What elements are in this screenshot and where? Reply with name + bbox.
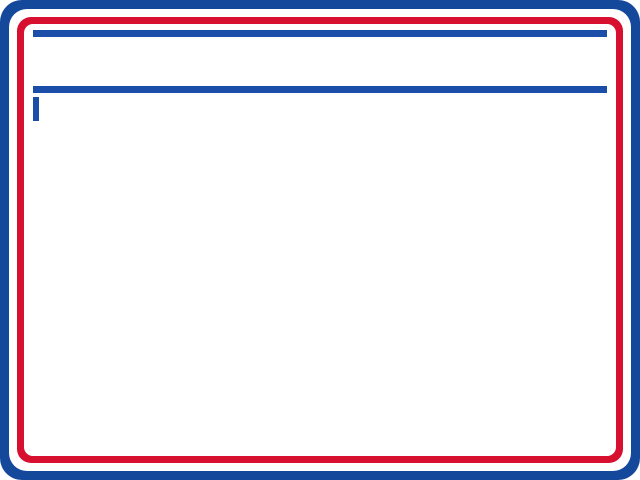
content-panel	[24, 24, 616, 456]
screenshot-root	[0, 0, 640, 480]
page-title	[24, 36, 616, 86]
title-rule-bottom	[33, 86, 607, 93]
timeline-axis	[24, 106, 616, 138]
warranty-timeline-chart	[24, 106, 616, 451]
